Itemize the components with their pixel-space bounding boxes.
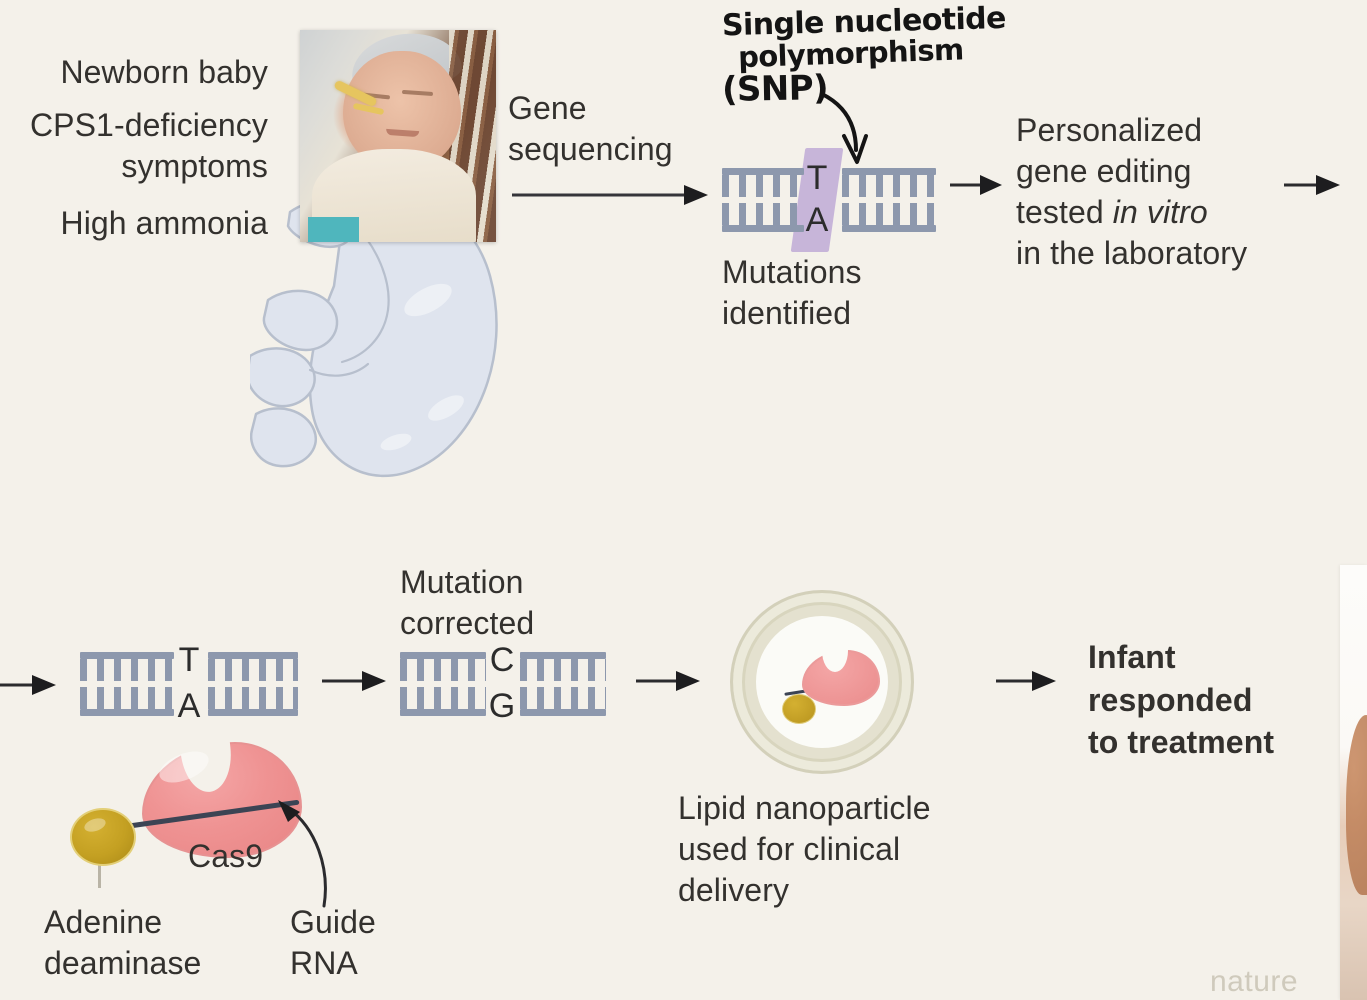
nanoparticle-caption-line1: Lipid nanoparticle bbox=[678, 788, 1018, 829]
patient-title: Newborn baby bbox=[0, 52, 268, 93]
outcome-line1: Infant bbox=[1088, 636, 1348, 679]
patient-condition-line2: symptoms bbox=[0, 146, 268, 187]
corrected-caption-line2: corrected bbox=[400, 603, 630, 644]
dna-rungs-bottom bbox=[520, 687, 606, 709]
dna-rungs-bottom bbox=[80, 687, 174, 709]
corrected-caption-line1: Mutation bbox=[400, 562, 630, 603]
personalized-editing-label: Personalized gene editing tested in vitr… bbox=[1016, 110, 1278, 274]
dna-backbone-bottom bbox=[722, 225, 804, 232]
adenine-deaminase-label: Adenine deaminase bbox=[44, 902, 244, 984]
editing-line4: in the laboratory bbox=[1016, 233, 1278, 274]
dna-backbone-bottom bbox=[80, 709, 174, 716]
photo-teal-fabric bbox=[308, 217, 359, 242]
dna-backbone-top bbox=[722, 168, 804, 175]
dna-backbone-top bbox=[400, 652, 486, 659]
corrected-base-top: C bbox=[484, 644, 520, 677]
dna-backbone-bottom bbox=[520, 709, 606, 716]
dna-rungs-top bbox=[208, 659, 298, 681]
nanoparticle-caption-line3: delivery bbox=[678, 870, 1018, 911]
side-photo-subject bbox=[1346, 715, 1367, 895]
patient-symptom: High ammonia bbox=[0, 203, 268, 244]
dna-backbone-top bbox=[208, 652, 298, 659]
deaminase-label-line2: deaminase bbox=[44, 943, 244, 984]
arrow-row-continue bbox=[1284, 172, 1342, 198]
adenine-deaminase-shape bbox=[70, 808, 136, 866]
dna-backbone-bottom bbox=[400, 709, 486, 716]
gene-sequencing-label: Gene sequencing bbox=[508, 88, 708, 170]
editing-line3-italic: in vitro bbox=[1113, 194, 1208, 230]
nanoparticle-deaminase bbox=[782, 694, 816, 724]
newborn-photo bbox=[300, 30, 496, 242]
dna-rungs-bottom bbox=[400, 687, 486, 709]
arrow-to-outcome bbox=[996, 668, 1058, 694]
dna-segment-right bbox=[842, 168, 936, 232]
mutation-corrected-caption: Mutation corrected bbox=[400, 562, 630, 644]
snp-base-top: T bbox=[800, 162, 834, 195]
guide-label-line2: RNA bbox=[290, 943, 450, 984]
dna-rungs-top bbox=[722, 175, 804, 197]
dna-rungs-top bbox=[520, 659, 606, 681]
mutations-caption-line1: Mutations bbox=[722, 252, 952, 293]
patient-condition-line1: CPS1-deficiency bbox=[0, 105, 268, 146]
snp-hand-line3: (SNP) bbox=[722, 64, 1053, 110]
guide-rna-label: Guide RNA bbox=[290, 902, 450, 984]
deaminase-highlight bbox=[83, 816, 108, 834]
dna-rungs-top bbox=[842, 175, 936, 197]
gene-sequencing-line2: sequencing bbox=[508, 129, 708, 170]
editing-line2: gene editing bbox=[1016, 151, 1278, 192]
infographic-canvas: Newborn baby CPS1-deficiency symptoms Hi… bbox=[0, 0, 1367, 1000]
mutations-caption-line2: identified bbox=[722, 293, 952, 334]
dna-backbone-bottom bbox=[208, 709, 298, 716]
mutations-identified-caption: Mutations identified bbox=[722, 252, 952, 334]
target-base-top: T bbox=[172, 644, 206, 677]
dna-backbone-bottom bbox=[842, 225, 936, 232]
guide-label-line1: Guide bbox=[290, 902, 450, 943]
dna-rungs-bottom bbox=[842, 203, 936, 225]
nanoparticle-caption-line2: used for clinical bbox=[678, 829, 1018, 870]
arrow-to-corrected bbox=[322, 668, 388, 694]
dna-segment-left bbox=[722, 168, 804, 232]
outcome-label: Infant responded to treatment bbox=[1088, 636, 1348, 764]
dna-target-icon: T A bbox=[80, 648, 292, 720]
cas9-label: Cas9 bbox=[188, 836, 263, 877]
gene-sequencing-line1: Gene bbox=[508, 88, 708, 129]
dna-mutation-icon: T A bbox=[722, 160, 936, 242]
dna-segment-right bbox=[208, 652, 298, 716]
outcome-line3: to treatment bbox=[1088, 721, 1348, 764]
dna-segment-right bbox=[520, 652, 606, 716]
dna-backbone-top bbox=[842, 168, 936, 175]
dna-segment-left bbox=[80, 652, 174, 716]
dna-rungs-top bbox=[400, 659, 486, 681]
arrow-to-nanoparticle bbox=[636, 668, 702, 694]
deaminase-label-line1: Adenine bbox=[44, 902, 244, 943]
dna-backbone-top bbox=[520, 652, 606, 659]
arrow-to-editing bbox=[950, 172, 1004, 198]
snp-handwritten-annotation: Single nucleotide polymorphism (SNP) bbox=[722, 4, 1052, 107]
side-photo-panel bbox=[1340, 565, 1367, 1000]
dna-backbone-top bbox=[80, 652, 174, 659]
dna-corrected-icon: C G bbox=[400, 648, 610, 720]
target-base-bottom: A bbox=[172, 690, 206, 723]
nanoparticle-caption: Lipid nanoparticle used for clinical del… bbox=[678, 788, 1018, 911]
nature-watermark: nature bbox=[1210, 965, 1298, 999]
dna-segment-left bbox=[400, 652, 486, 716]
snp-base-bottom: A bbox=[800, 204, 834, 237]
dna-rungs-bottom bbox=[208, 687, 298, 709]
editing-line3: tested in vitro bbox=[1016, 192, 1278, 233]
nanoparticle-core bbox=[756, 616, 888, 748]
dna-rungs-bottom bbox=[722, 203, 804, 225]
corrected-base-bottom: G bbox=[484, 690, 520, 723]
editing-line1: Personalized bbox=[1016, 110, 1278, 151]
arrow-row-wrap bbox=[0, 672, 58, 698]
dna-rungs-top bbox=[80, 659, 174, 681]
arrow-sequencing bbox=[512, 182, 712, 208]
lipid-nanoparticle-icon bbox=[730, 590, 914, 774]
editing-line3-plain: tested bbox=[1016, 194, 1113, 230]
guide-rna-pointer-arrow-icon bbox=[268, 790, 338, 910]
outcome-line2: responded bbox=[1088, 679, 1348, 722]
patient-text-block: Newborn baby CPS1-deficiency symptoms Hi… bbox=[0, 52, 268, 244]
